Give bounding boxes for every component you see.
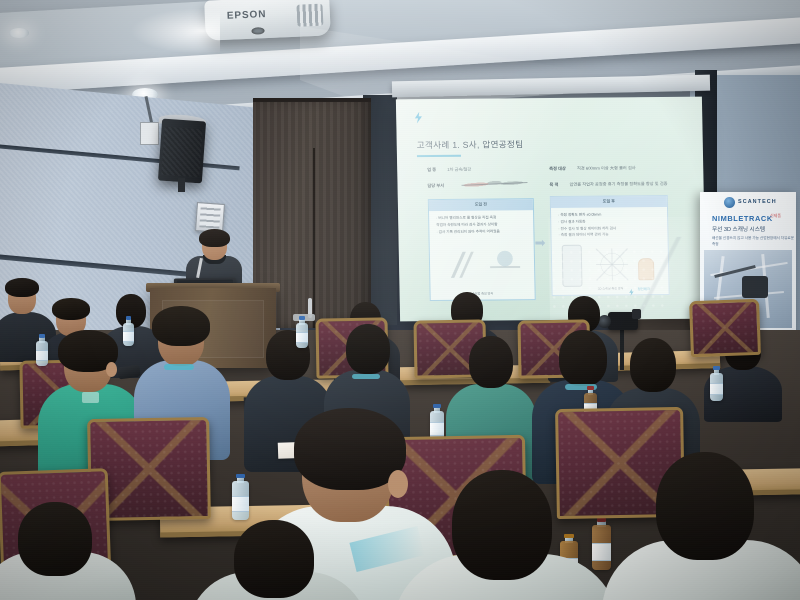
seminar-room-photo: EPSON 고객사례 1. S사, 압연공정팀 업 종 1차 bbox=[0, 0, 800, 600]
speaker-grille bbox=[161, 127, 202, 178]
water-bottle[interactable] bbox=[710, 368, 723, 401]
presenter-hair bbox=[199, 229, 230, 247]
banner-brand-name: SCANTECH bbox=[738, 199, 777, 205]
banner-product-name: NIMBLETRACK bbox=[712, 214, 773, 223]
banner-subtitle: 무선 3D 스캐닝 시스템 bbox=[712, 225, 765, 233]
camera-viewfinder bbox=[632, 309, 641, 319]
lanyard bbox=[164, 364, 194, 370]
attendee-front-center-low bbox=[200, 528, 350, 600]
scantech-logo-icon bbox=[724, 197, 735, 208]
projector-lens bbox=[251, 27, 264, 35]
banner-new-badge: 신제품 bbox=[770, 213, 781, 219]
ceiling-downlight-secondary bbox=[9, 28, 29, 38]
water-bottle[interactable] bbox=[36, 336, 48, 366]
screen-sheen bbox=[396, 97, 706, 322]
attendee-front-far-right bbox=[618, 452, 798, 600]
attendee-front-left bbox=[0, 512, 120, 600]
wall-junction-box bbox=[140, 122, 159, 145]
water-bottle[interactable] bbox=[232, 476, 249, 520]
projector-glare bbox=[130, 8, 220, 54]
chair[interactable] bbox=[689, 299, 761, 357]
handheld-scanner-device bbox=[742, 276, 768, 298]
projection-screen: 고객사례 1. S사, 압연공정팀 업 종 1차 금속/철강 담당 부서 측정 … bbox=[396, 97, 706, 322]
speaker-bracket bbox=[178, 178, 185, 192]
shirt-logo bbox=[82, 392, 99, 403]
projector-brand-label: EPSON bbox=[227, 9, 267, 22]
wood-panel-top-edge bbox=[253, 98, 371, 102]
door-seam bbox=[313, 148, 315, 328]
wall-mounted-speaker bbox=[158, 119, 206, 184]
attendee-front-right bbox=[412, 468, 602, 600]
water-bottle[interactable] bbox=[123, 318, 134, 346]
projector-vent-grille bbox=[296, 4, 323, 27]
lanyard bbox=[352, 374, 380, 379]
banner-description: 배선을 신경쓰지 않고 사용 가능 산업현장에서 자유로운 측정 bbox=[712, 235, 796, 247]
water-bottle[interactable] bbox=[296, 318, 308, 348]
wall-control-panel-buttons bbox=[199, 206, 220, 228]
